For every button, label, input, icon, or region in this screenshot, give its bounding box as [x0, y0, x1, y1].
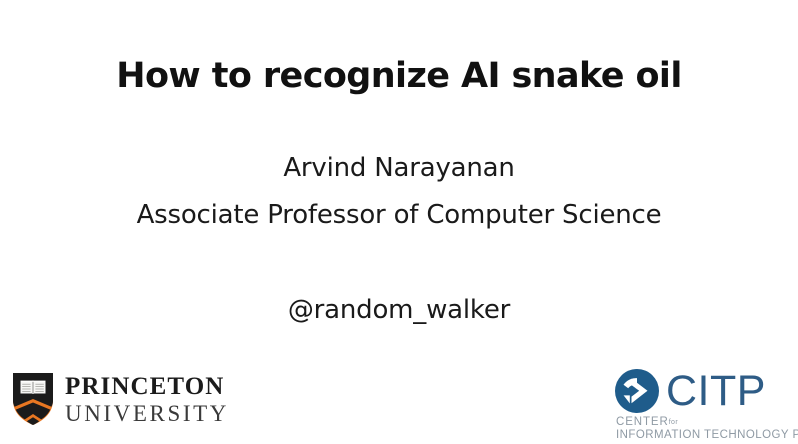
princeton-shield-icon	[12, 372, 54, 426]
citp-logo: CITP CENTERfor INFORMATION TECHNOLOGY PO…	[614, 367, 794, 442]
citp-caption-for: for	[669, 419, 678, 426]
citp-arrow-circle-icon	[614, 368, 660, 414]
citp-caption-center: CENTER	[616, 416, 669, 428]
citp-caption: CENTERfor INFORMATION TECHNOLOGY POLICY	[616, 416, 794, 442]
princeton-wordmark-line2: UNIVERSITY	[65, 402, 229, 425]
citp-letters: CITP	[666, 369, 766, 413]
presenter-name: Arvind Narayanan	[0, 152, 798, 184]
presentation-slide: How to recognize AI snake oil Arvind Nar…	[0, 0, 798, 444]
princeton-university-logo: PRINCETON UNIVERSITY	[12, 372, 229, 426]
citp-caption-line2: INFORMATION TECHNOLOGY POLICY	[616, 429, 794, 442]
slide-title: How to recognize AI snake oil	[0, 54, 798, 98]
presenter-handle: @random_walker	[0, 294, 798, 326]
citp-logo-top: CITP	[614, 367, 794, 415]
princeton-wordmark-line1: PRINCETON	[65, 374, 229, 399]
princeton-wordmark: PRINCETON UNIVERSITY	[65, 374, 229, 425]
presenter-role: Associate Professor of Computer Science	[0, 199, 798, 231]
citp-caption-line1: CENTERfor	[616, 416, 794, 429]
